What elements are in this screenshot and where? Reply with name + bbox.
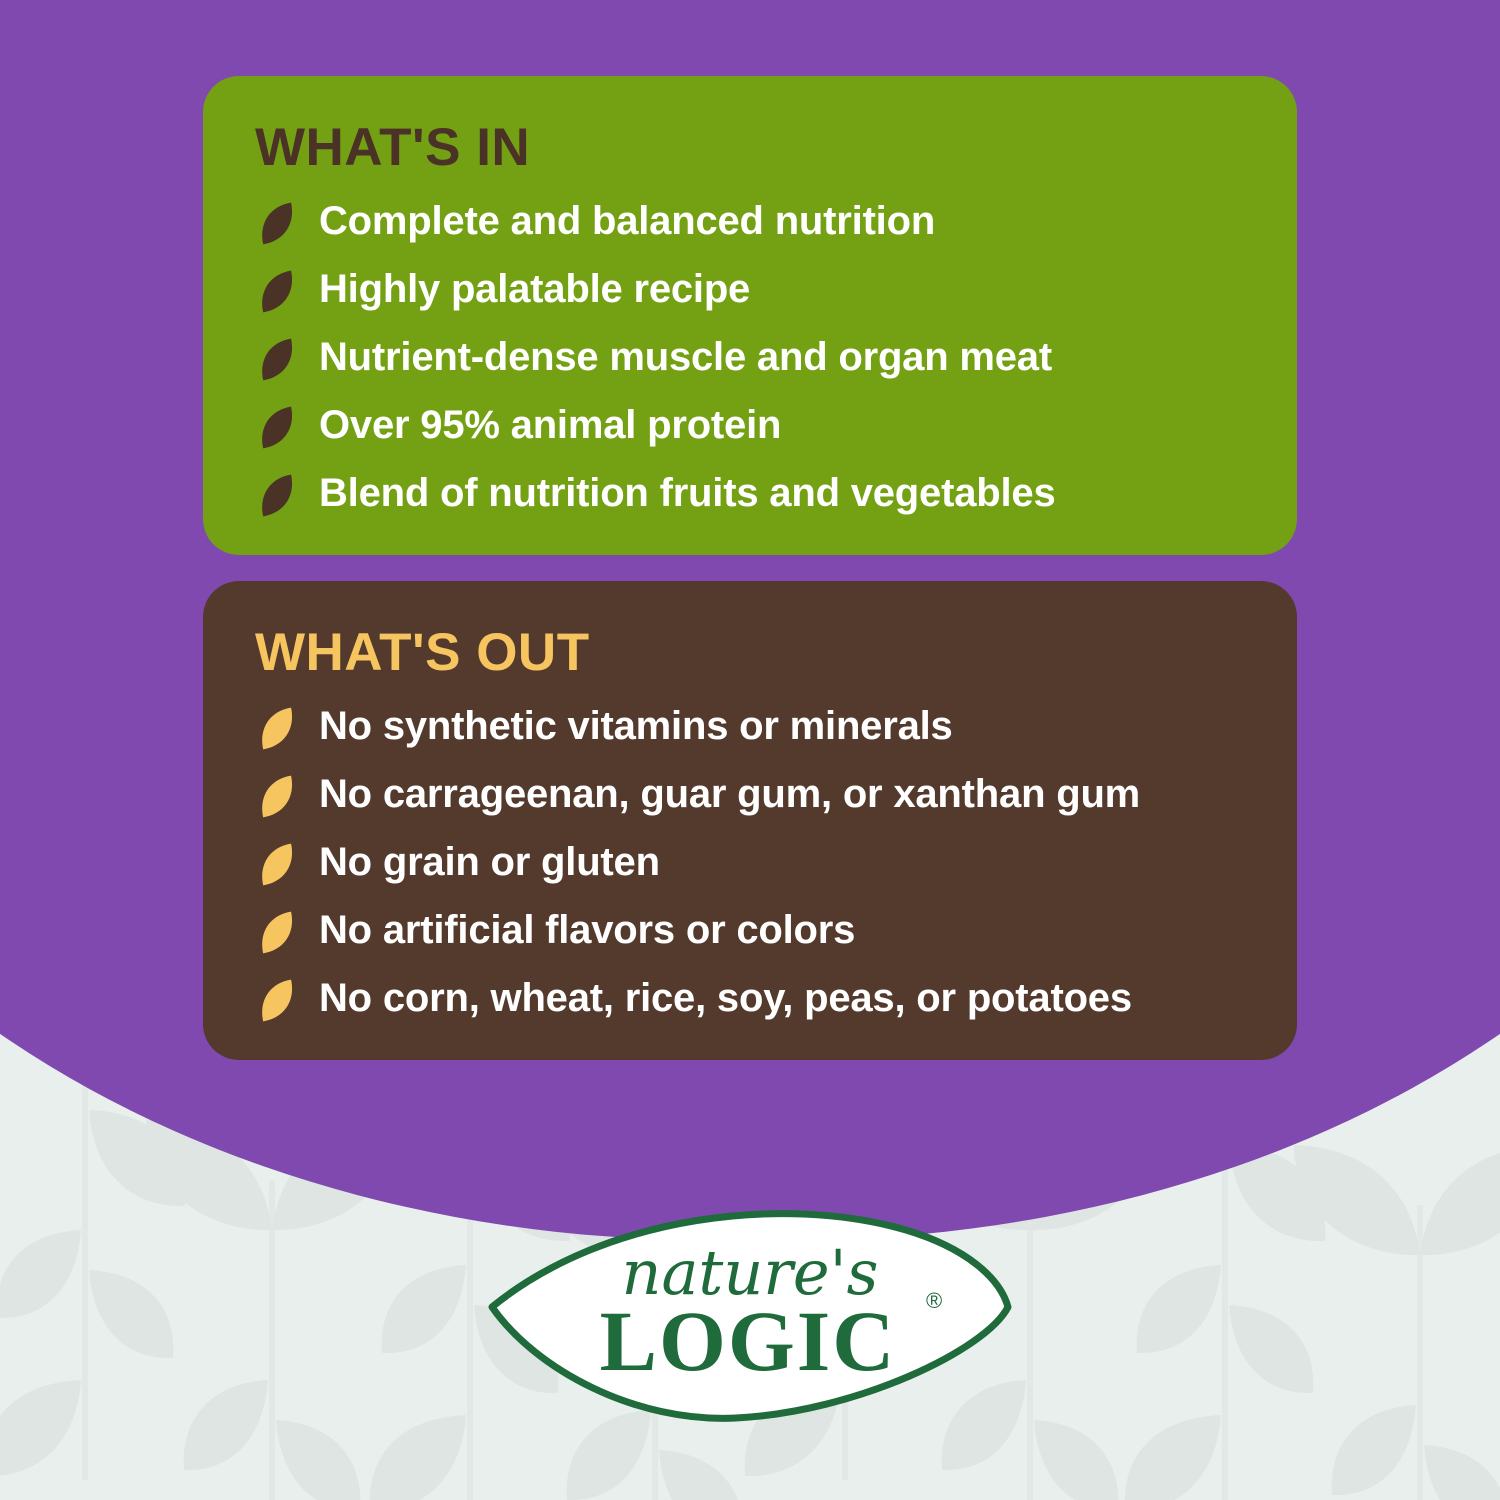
list-item-label: Complete and balanced nutrition [319, 199, 935, 244]
whats-out-title: WHAT'S OUT [255, 625, 1253, 681]
leaf-icon [255, 706, 299, 750]
whats-in-card: WHAT'S IN Complete and balanced nutritio… [203, 76, 1297, 555]
whats-out-card: WHAT'S OUT No synthetic vitamins or mine… [203, 581, 1297, 1060]
logo-main-word: LOGIC [600, 1293, 897, 1389]
list-item: Over 95% animal protein [255, 394, 1253, 458]
list-item: No corn, wheat, rice, soy, peas, or pota… [255, 967, 1253, 1031]
list-item-label: No synthetic vitamins or minerals [319, 704, 953, 749]
list-item: Blend of nutrition fruits and vegetables [255, 462, 1253, 526]
leaf-icon [255, 201, 299, 245]
promo-graphic: WHAT'S IN Complete and balanced nutritio… [0, 0, 1500, 1500]
list-item: No artificial flavors or colors [255, 899, 1253, 963]
list-item: Complete and balanced nutrition [255, 190, 1253, 254]
whats-in-title: WHAT'S IN [255, 120, 1253, 176]
list-item-label: No grain or gluten [319, 840, 660, 885]
list-item: Highly palatable recipe [255, 258, 1253, 322]
leaf-icon [255, 337, 299, 381]
list-item-label: No corn, wheat, rice, soy, peas, or pota… [319, 976, 1132, 1021]
leaf-icon [255, 842, 299, 886]
list-item-label: Highly palatable recipe [319, 267, 750, 312]
list-item: Nutrient-dense muscle and organ meat [255, 326, 1253, 390]
leaf-icon [255, 405, 299, 449]
list-item-label: Blend of nutrition fruits and vegetables [319, 471, 1056, 516]
registered-trademark-icon: ® [926, 1288, 942, 1313]
list-item: No carrageenan, guar gum, or xanthan gum [255, 763, 1253, 827]
list-item: No grain or gluten [255, 831, 1253, 895]
list-item-label: Nutrient-dense muscle and organ meat [319, 335, 1052, 380]
list-item-label: No carrageenan, guar gum, or xanthan gum [319, 772, 1140, 817]
list-item-label: No artificial flavors or colors [319, 908, 855, 953]
leaf-icon [255, 473, 299, 517]
list-item-label: Over 95% animal protein [319, 403, 781, 448]
whats-in-list: Complete and balanced nutrition Highly p… [255, 190, 1253, 526]
list-item: No synthetic vitamins or minerals [255, 695, 1253, 759]
leaf-icon [255, 978, 299, 1022]
leaf-icon [255, 269, 299, 313]
leaf-icon [255, 910, 299, 954]
whats-out-list: No synthetic vitamins or minerals No car… [255, 695, 1253, 1031]
natures-logic-logo: nature's LOGIC ® [486, 1190, 1014, 1425]
leaf-icon [255, 774, 299, 818]
